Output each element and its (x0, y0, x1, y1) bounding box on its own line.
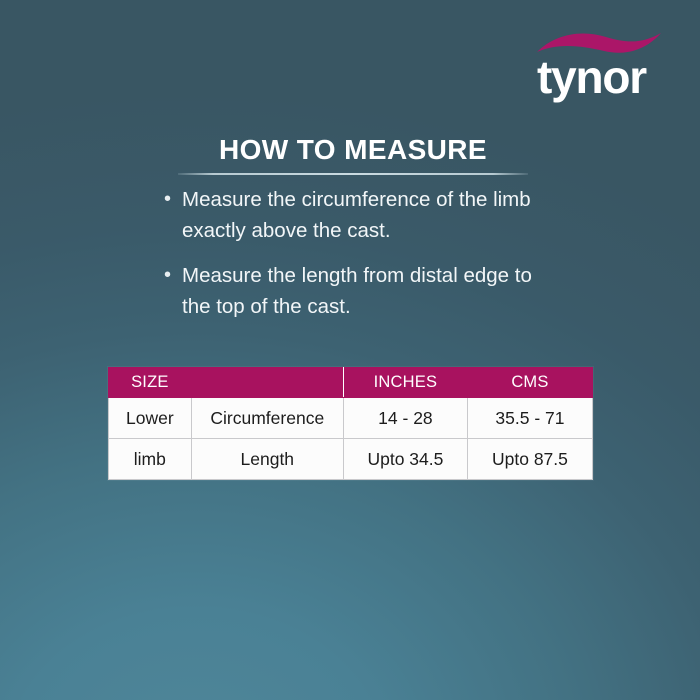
list-item-label: Measure the length from distal edge to t… (182, 260, 538, 322)
instructions-list: • Measure the circumference of the limb … (160, 184, 580, 336)
bullet-icon: • (160, 260, 182, 291)
cell-inches: Upto 34.5 (343, 439, 467, 480)
list-item-label: Measure the circumference of the limb ex… (182, 184, 538, 246)
cell-cms: 35.5 - 71 (467, 398, 592, 439)
table-row: Lower Circumference 14 - 28 35.5 - 71 (109, 398, 593, 439)
column-header-cms: CMS (467, 368, 592, 398)
table-header-row: SIZE INCHES CMS (109, 368, 593, 398)
cell-cms: Upto 87.5 (467, 439, 592, 480)
bullet-icon: • (160, 184, 182, 215)
measurement-guide-poster: tynor HOW TO MEASURE • Measure the circu… (0, 0, 700, 700)
size-chart-table: SIZE INCHES CMS Lower Circumference 14 -… (108, 367, 593, 480)
tynor-logo: tynor (534, 30, 664, 102)
list-item: • Measure the length from distal edge to… (160, 260, 580, 322)
page-title: HOW TO MEASURE (178, 133, 528, 167)
column-header-parameter (191, 368, 343, 398)
cell-parameter: Circumference (191, 398, 343, 439)
cell-size: Lower (109, 398, 192, 439)
title-divider (178, 173, 528, 175)
list-item: • Measure the circumference of the limb … (160, 184, 580, 246)
cell-size: limb (109, 439, 192, 480)
column-header-size: SIZE (109, 368, 192, 398)
table-row: limb Length Upto 34.5 Upto 87.5 (109, 439, 593, 480)
column-header-inches: INCHES (343, 368, 467, 398)
cell-parameter: Length (191, 439, 343, 480)
cell-inches: 14 - 28 (343, 398, 467, 439)
tynor-wordmark: tynor (537, 52, 667, 102)
